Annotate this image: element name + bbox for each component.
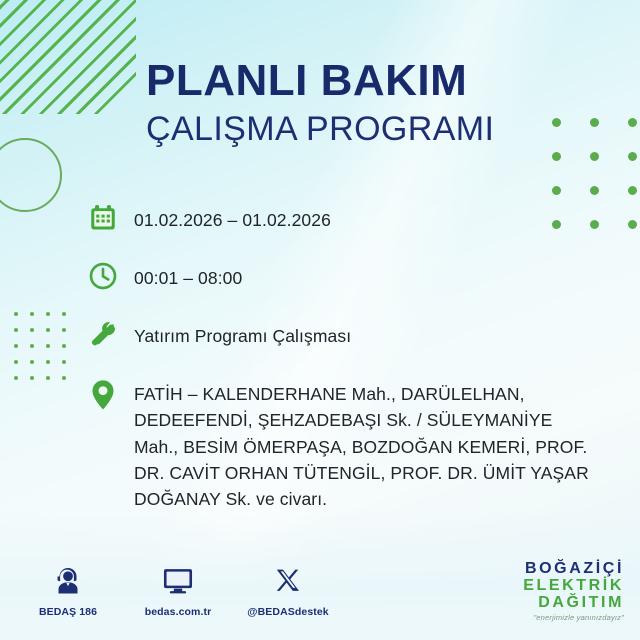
call-center-agent-icon bbox=[26, 562, 110, 600]
bedas-logo: BOĞAZİÇİ ELEKTRİK DAĞITIM "enerjimizle y… bbox=[523, 561, 624, 622]
dot-grid-left-decoration bbox=[8, 306, 72, 386]
maintenance-details: 01.02.2026 – 01.02.2026 00:01 – 08:00 Ya… bbox=[86, 203, 598, 512]
clock-icon bbox=[86, 261, 120, 295]
detail-row-work-type: Yatırım Programı Çalışması bbox=[86, 319, 598, 353]
work-type-value: Yatırım Programı Çalışması bbox=[134, 319, 351, 350]
circle-outline-decoration bbox=[0, 138, 62, 212]
contact-label-website: bedas.com.tr bbox=[136, 606, 220, 618]
contact-list: BEDAŞ 186 bedas.com.tr bbox=[26, 562, 330, 618]
date-range-value: 01.02.2026 – 01.02.2026 bbox=[134, 203, 331, 234]
time-range-value: 00:01 – 08:00 bbox=[134, 261, 242, 292]
x-twitter-icon bbox=[246, 562, 330, 600]
logo-line-bogazici: BOĞAZİÇİ bbox=[523, 561, 624, 578]
tools-icon bbox=[86, 319, 120, 353]
contact-item-x[interactable]: @BEDASdestek bbox=[246, 562, 330, 618]
detail-row-date: 01.02.2026 – 01.02.2026 bbox=[86, 203, 598, 237]
detail-row-address: FATİH – KALENDERHANE Mah., DARÜLELHAN, D… bbox=[86, 377, 598, 512]
logo-line-dagitim: DAĞITIM bbox=[523, 595, 624, 612]
contact-item-website[interactable]: bedas.com.tr bbox=[136, 562, 220, 618]
poster-header: PLANLI BAKIM ÇALIŞMA PROGRAMI bbox=[146, 58, 566, 149]
logo-line-elektrik: ELEKTRİK bbox=[523, 578, 624, 595]
monitor-icon bbox=[136, 562, 220, 600]
address-value: FATİH – KALENDERHANE Mah., DARÜLELHAN, D… bbox=[134, 377, 598, 512]
calendar-icon bbox=[86, 203, 120, 237]
page-subtitle: ÇALIŞMA PROGRAMI bbox=[146, 109, 566, 149]
poster-footer: BEDAŞ 186 bedas.com.tr bbox=[0, 544, 640, 640]
contact-item-phone[interactable]: BEDAŞ 186 bbox=[26, 562, 110, 618]
detail-row-time: 00:01 – 08:00 bbox=[86, 261, 598, 295]
planned-maintenance-poster: PLANLI BAKIM ÇALIŞMA PROGRAMI 01 bbox=[0, 0, 640, 640]
contact-label-x: @BEDASdestek bbox=[246, 606, 330, 618]
logo-tagline: "enerjimizle yanınızdayız" bbox=[523, 614, 624, 622]
page-title: PLANLI BAKIM bbox=[146, 58, 566, 105]
contact-label-phone: BEDAŞ 186 bbox=[26, 606, 110, 618]
location-pin-icon bbox=[86, 377, 120, 411]
